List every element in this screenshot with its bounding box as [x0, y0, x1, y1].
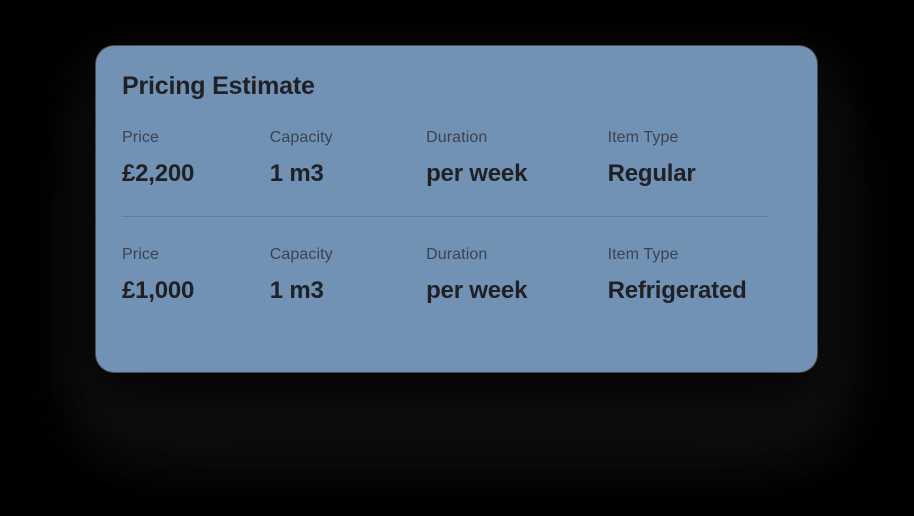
cell-value-price: £1,000: [122, 279, 270, 303]
cell-value-capacity: 1 m3: [270, 279, 426, 303]
cell-value-item-type: Refrigerated: [608, 279, 791, 303]
cell-label-duration: Duration: [426, 247, 607, 263]
cell-value-price: £2,200: [122, 162, 270, 186]
pricing-cell-duration: Duration per week: [426, 130, 607, 186]
pricing-row-refrigerated: Price £1,000 Capacity 1 m3 Duration per …: [122, 247, 791, 303]
cell-label-duration: Duration: [426, 130, 607, 146]
cell-label-price: Price: [122, 247, 270, 263]
cell-label-item-type: Item Type: [608, 130, 791, 146]
cell-value-item-type: Regular: [608, 162, 791, 186]
pricing-cell-item-type: Item Type Regular: [608, 130, 791, 186]
cell-value-duration: per week: [426, 279, 607, 303]
pricing-cell-duration: Duration per week: [426, 247, 607, 303]
pricing-row-regular: Price £2,200 Capacity 1 m3 Duration per …: [122, 130, 791, 186]
pricing-estimate-card: Pricing Estimate Price £2,200 Capacity 1…: [96, 46, 817, 372]
cell-label-capacity: Capacity: [270, 247, 426, 263]
cell-value-capacity: 1 m3: [270, 162, 426, 186]
cell-label-capacity: Capacity: [270, 130, 426, 146]
row-divider: [122, 216, 767, 217]
pricing-cell-item-type: Item Type Refrigerated: [608, 247, 791, 303]
page-title: Pricing Estimate: [122, 72, 791, 99]
cell-label-price: Price: [122, 130, 270, 146]
page-background: Pricing Estimate Price £2,200 Capacity 1…: [0, 0, 914, 516]
pricing-cell-capacity: Capacity 1 m3: [270, 130, 426, 186]
cell-label-item-type: Item Type: [608, 247, 791, 263]
pricing-cell-capacity: Capacity 1 m3: [270, 247, 426, 303]
cell-value-duration: per week: [426, 162, 607, 186]
pricing-cell-price: Price £1,000: [122, 247, 270, 303]
pricing-cell-price: Price £2,200: [122, 130, 270, 186]
